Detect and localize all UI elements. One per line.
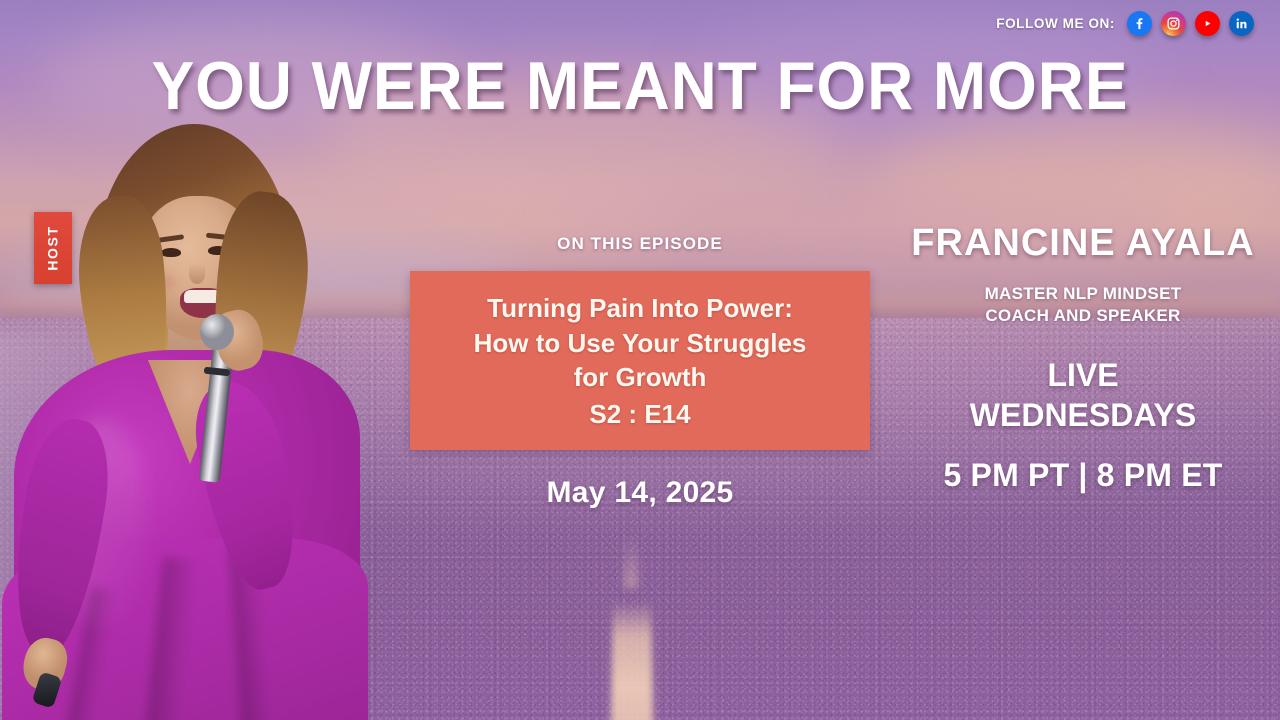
instagram-icon[interactable] [1161,11,1186,36]
follow-me-label: FOLLOW ME ON: [996,16,1115,31]
lane-marking [624,536,638,588]
follow-me-bar: FOLLOW ME ON: [996,11,1254,36]
host-badge-label: HOST [45,225,61,270]
on-this-episode-label: ON THIS EPISODE [390,234,890,254]
nose [189,264,205,284]
livestream-promo-graphic: FOLLOW ME ON: YOU W [0,0,1280,720]
lane-marking [611,601,653,720]
episode-code: S2 : E14 [426,399,854,430]
live-schedule: LIVE WEDNESDAYS [900,355,1266,435]
episode-title: Turning Pain Into Power: How to Use Your… [426,291,854,395]
eye [161,248,181,257]
host-photo [0,118,380,720]
linkedin-icon[interactable] [1229,11,1254,36]
facebook-icon[interactable] [1127,11,1152,36]
show-title: YOU WERE MEANT FOR MORE [38,52,1241,120]
youtube-icon[interactable] [1195,11,1220,36]
microphone-icon [200,314,234,350]
live-time: 5 PM PT | 8 PM ET [900,457,1266,494]
episode-date: May 14, 2025 [390,476,890,510]
episode-panel: ON THIS EPISODE Turning Pain Into Power:… [390,234,890,510]
host-role: MASTER NLP MINDSET COACH AND SPEAKER [900,283,1266,327]
episode-title-box: Turning Pain Into Power: How to Use Your… [410,271,870,450]
host-badge: HOST [34,212,72,284]
host-name: FRANCINE AYALA [900,222,1266,265]
host-info-panel: FRANCINE AYALA MASTER NLP MINDSET COACH … [900,222,1266,494]
